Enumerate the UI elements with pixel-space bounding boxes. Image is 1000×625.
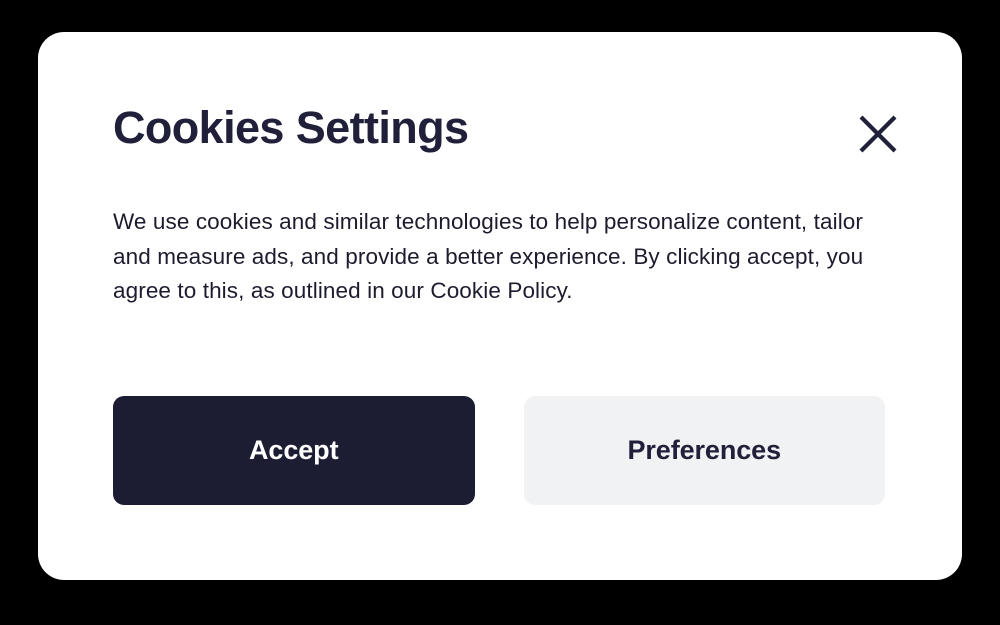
accept-button[interactable]: Accept xyxy=(113,396,475,505)
page-title: Cookies Settings xyxy=(113,100,468,156)
preferences-button[interactable]: Preferences xyxy=(524,396,886,505)
close-button[interactable] xyxy=(855,111,901,157)
screen-backdrop: Cookies Settings We use cookies and simi… xyxy=(0,0,1000,625)
close-icon xyxy=(857,113,899,155)
dialog-header: Cookies Settings xyxy=(113,100,924,172)
dialog-body-text: We use cookies and similar technologies … xyxy=(113,205,903,309)
dialog-actions: Accept Preferences xyxy=(113,396,885,505)
cookies-settings-dialog: Cookies Settings We use cookies and simi… xyxy=(38,32,962,580)
